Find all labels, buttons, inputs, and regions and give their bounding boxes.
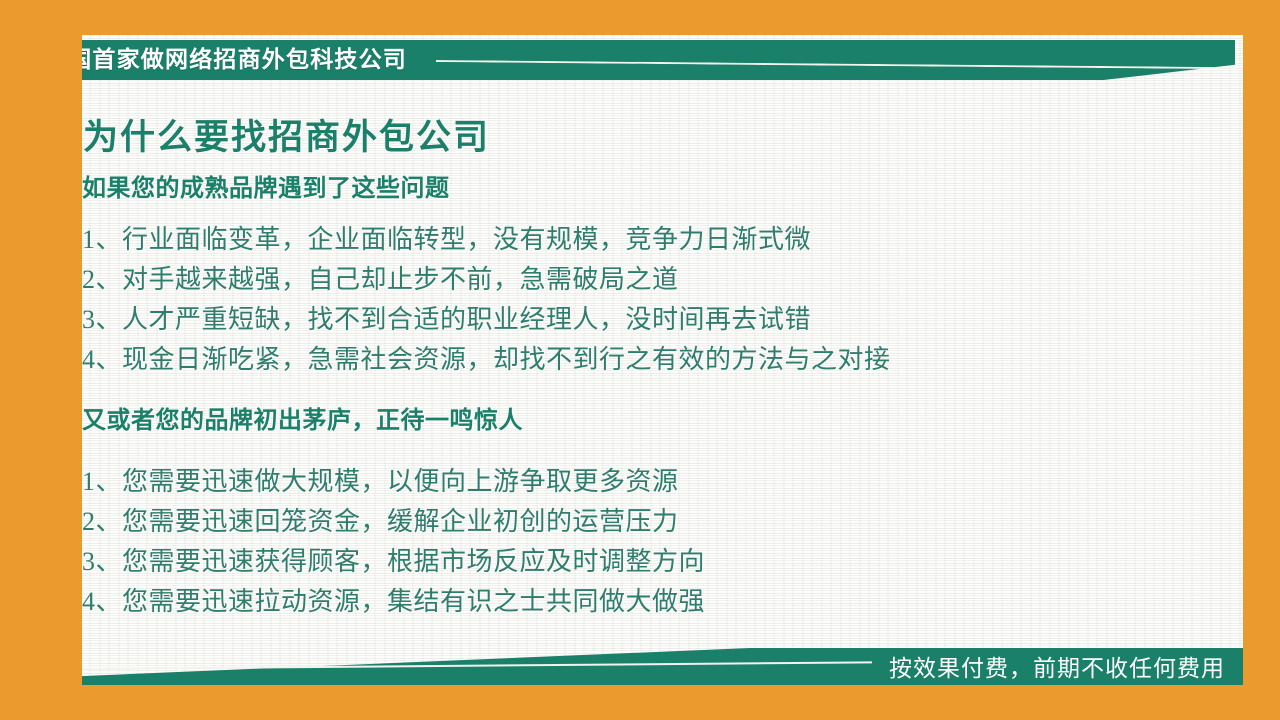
header-banner-text: 中国首家做网络招商外包科技公司 (44, 44, 407, 74)
needs-list-new-brand: 1、您需要迅速做大规模，以便向上游争取更多资源 2、您需要迅速回笼资金，缓解企业… (82, 462, 1243, 622)
spacer (82, 380, 1243, 404)
section-new-brand: 又或者您的品牌初出茅庐，正待一鸣惊人 1、您需要迅速做大规模，以便向上游争取更多… (82, 404, 1243, 622)
footer-tagline: 按效果付费，前期不收任何费用 (889, 652, 1225, 684)
list-item: 3、人才严重短缺，找不到合适的职业经理人，没时间再去试错 (82, 300, 1243, 340)
list-item: 2、您需要迅速回笼资金，缓解企业初创的运营压力 (82, 502, 1243, 542)
list-item: 4、现金日渐吃紧，急需社会资源，却找不到行之有效的方法与之对接 (82, 340, 1243, 380)
spacer (82, 206, 1243, 220)
list-item: 4、您需要迅速拉动资源，集结有识之士共同做大做强 (82, 582, 1243, 622)
section-heading-mature-brand: 如果您的成熟品牌遇到了这些问题 (82, 172, 1243, 206)
spacer (82, 438, 1243, 462)
list-item: 2、对手越来越强，自己却止步不前，急需破局之道 (82, 260, 1243, 300)
frame-edge-left (0, 0, 82, 720)
main-content: 为什么要找招商外包公司 如果您的成熟品牌遇到了这些问题 1、行业面临变革，企业面… (82, 95, 1243, 622)
list-item: 3、您需要迅速获得顾客，根据市场反应及时调整方向 (82, 542, 1243, 582)
frame-edge-bottom (0, 685, 1280, 720)
list-item: 1、您需要迅速做大规模，以便向上游争取更多资源 (82, 462, 1243, 502)
page-title: 为什么要找招商外包公司 (82, 95, 1243, 163)
page-title-container: 为什么要找招商外包公司 (82, 95, 1243, 163)
frame-edge-top (0, 0, 1280, 35)
problem-list-mature-brand: 1、行业面临变革，企业面临转型，没有规模，竞争力日渐式微 2、对手越来越强，自己… (82, 220, 1243, 380)
spacer (82, 163, 1243, 172)
section-mature-brand: 如果您的成熟品牌遇到了这些问题 1、行业面临变革，企业面临转型，没有规模，竞争力… (82, 172, 1243, 380)
list-item: 1、行业面临变革，企业面临转型，没有规模，竞争力日渐式微 (82, 220, 1243, 260)
frame-edge-right (1243, 0, 1280, 720)
slide-canvas: 中国首家做网络招商外包科技公司 为什么要找招商外包公司 如果您的成熟品牌遇到了这… (0, 0, 1280, 720)
section-heading-new-brand: 又或者您的品牌初出茅庐，正待一鸣惊人 (82, 404, 1243, 438)
